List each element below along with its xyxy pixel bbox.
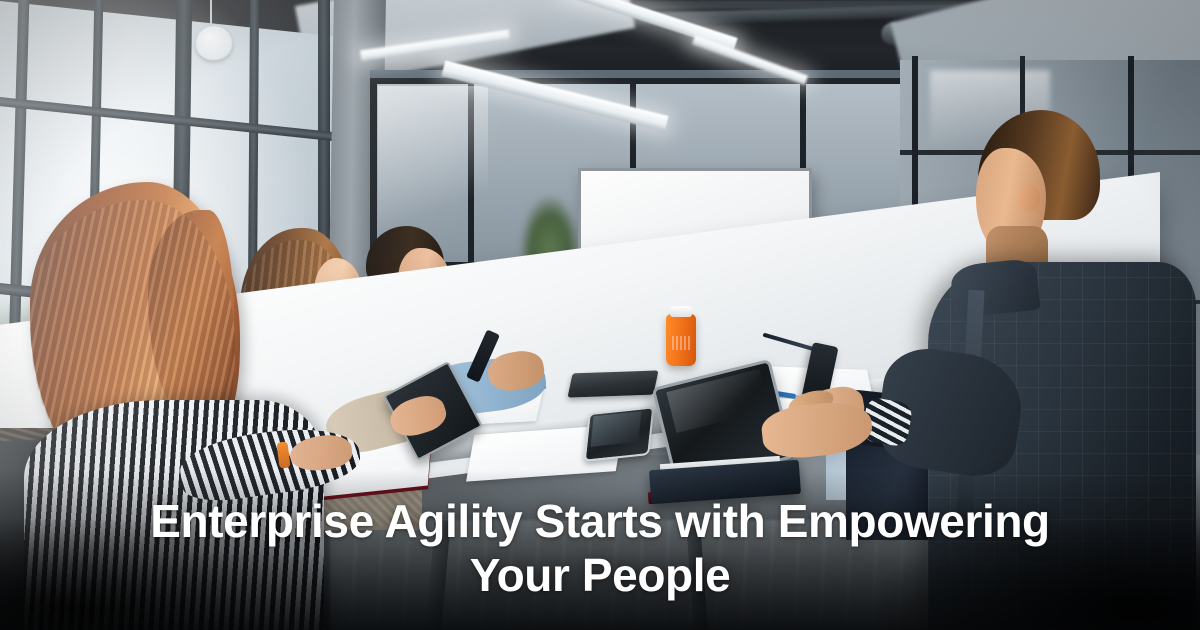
phone-screen	[591, 411, 642, 447]
bottle-label	[672, 336, 690, 350]
bottle-cap	[670, 306, 692, 317]
ear	[1018, 184, 1040, 212]
laptop-closed	[567, 370, 658, 397]
pendant-lamp-icon	[196, 26, 232, 60]
social-banner-image: Enterprise Agility Starts with Empowerin…	[0, 0, 1200, 630]
